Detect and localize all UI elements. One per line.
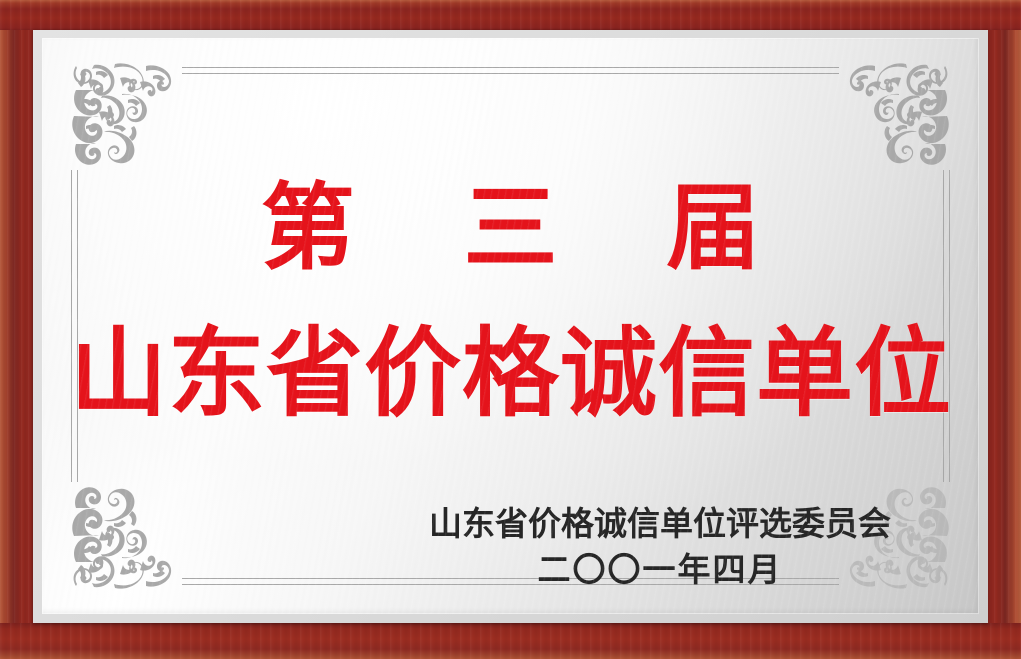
frame-left-wood <box>0 0 34 659</box>
award-content: 第 三 届 山东省价格诚信单位 山东省价格诚信单位评选委员会 二〇〇一年四月 <box>42 38 979 614</box>
plate-surface: 第 三 届 山东省价格诚信单位 山东省价格诚信单位评选委员会 二〇〇一年四月 <box>42 38 979 614</box>
frame-right-wood <box>987 0 1021 659</box>
issuing-organization: 山东省价格诚信单位评选委员会 <box>429 504 891 544</box>
award-signature-block: 山东省价格诚信单位评选委员会 二〇〇一年四月 <box>429 504 891 590</box>
frame-top-wood <box>0 0 1021 30</box>
award-title-line: 山东省价格诚信单位 <box>42 323 979 425</box>
frame-bottom-wood <box>0 623 1021 659</box>
plate-bevel: 第 三 届 山东省价格诚信单位 山东省价格诚信单位评选委员会 二〇〇一年四月 <box>33 30 988 623</box>
award-edition-line: 第 三 届 <box>42 182 979 276</box>
issue-date: 二〇〇一年四月 <box>429 550 891 590</box>
award-plaque: 第 三 届 山东省价格诚信单位 山东省价格诚信单位评选委员会 二〇〇一年四月 <box>0 0 1021 659</box>
